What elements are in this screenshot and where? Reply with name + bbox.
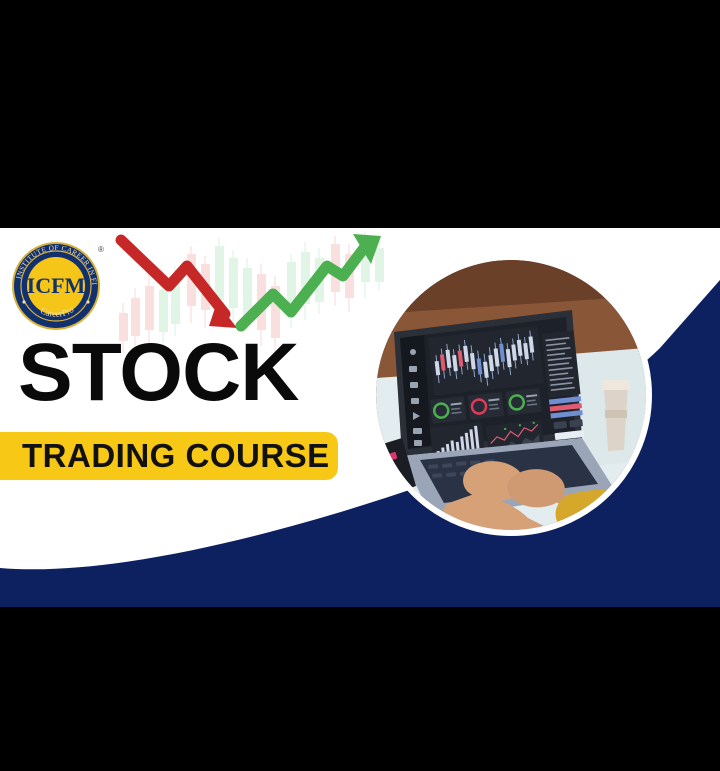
letterbox-top: [0, 0, 720, 228]
hero-photo-circle: [370, 254, 652, 536]
page-title: STOCK: [18, 332, 299, 414]
subtitle-banner: TRADING COURSE: [0, 432, 338, 480]
subtitle-text: TRADING COURSE: [22, 437, 330, 475]
hero-photo: [376, 260, 646, 530]
logo-trademark-icon: ®: [98, 245, 104, 254]
poster-root: INSTITUTE OF CAREER IN FINANCIAL MARKET …: [0, 0, 720, 771]
logo-center-text: ICFM: [27, 273, 86, 298]
icfm-logo: INSTITUTE OF CAREER IN FINANCIAL MARKET …: [10, 236, 106, 332]
poster-canvas: INSTITUTE OF CAREER IN FINANCIAL MARKET …: [0, 228, 720, 607]
letterbox-bottom: [0, 607, 720, 771]
laptop-trading-illustration: [376, 260, 646, 530]
